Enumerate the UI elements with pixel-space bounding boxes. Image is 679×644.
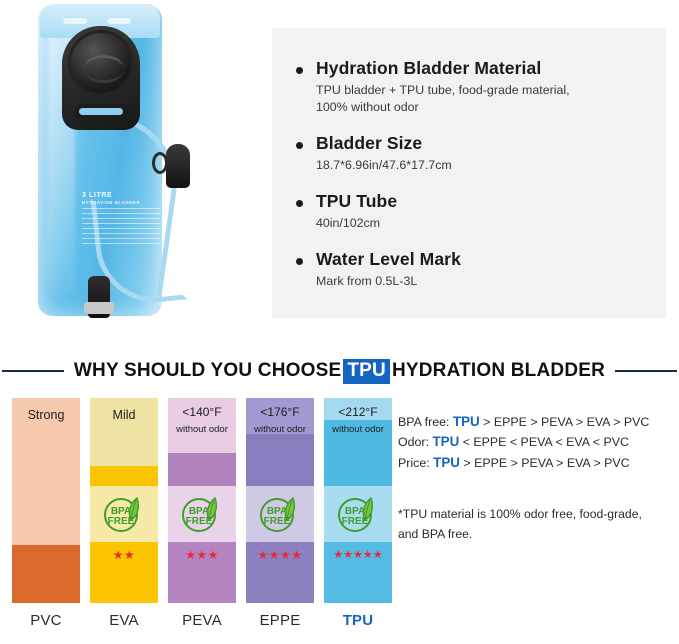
- star-rating: ★★★★★: [324, 548, 392, 561]
- specification-list: Hydration Bladder Material TPU bladder +…: [272, 28, 666, 291]
- headline-tpu-highlight: TPU: [343, 359, 390, 384]
- odor-label: Mild: [90, 408, 158, 422]
- star-rating: ★★: [90, 548, 158, 562]
- bullet-icon: [296, 67, 303, 74]
- bladder-instructions-lines: [82, 208, 160, 244]
- headline-rule-right: [615, 370, 677, 372]
- ranking-rest: > EPPE > PEVA > EVA > PVC: [483, 415, 649, 429]
- comparison-bar: <176°Fwithout odorBPAFREE★★★★: [246, 398, 314, 603]
- hang-slot-right: [106, 17, 132, 25]
- spec-item-bladder-size: Bladder Size 18.7*6.96in/47.6*17.7cm: [294, 133, 666, 174]
- product-image: 3 LITRE HYDRATION BLADDER: [0, 0, 264, 330]
- spec-description: 40in/102cm: [316, 215, 666, 232]
- product-infographic: 3 LITRE HYDRATION BLADDER Hydration Blad…: [0, 0, 679, 644]
- ranking-label: Odor:: [398, 435, 429, 449]
- comparison-column-eppe: <176°Fwithout odorBPAFREE★★★★EPPE: [246, 398, 314, 629]
- column-label-peva: PEVA: [168, 612, 236, 629]
- spec-title: Hydration Bladder Material: [316, 58, 666, 79]
- specification-panel: Hydration Bladder Material TPU bladder +…: [272, 28, 666, 318]
- section-headline: WHY SHOULD YOU CHOOSE TPU HYDRATION BLAD…: [0, 357, 679, 385]
- comparison-columns: StrongPVCMildBPAFREE★★EVA<140°Fwithout o…: [12, 398, 392, 629]
- band-2: [12, 545, 80, 603]
- temperature-label: <140°F: [168, 405, 236, 419]
- ranking-rest: < EPPE < PEVA < EVA < PVC: [463, 435, 629, 449]
- odor-label: without odor: [324, 424, 392, 435]
- band-2: [168, 453, 236, 486]
- material-comparison-chart: StrongPVCMildBPAFREE★★EVA<140°Fwithout o…: [0, 398, 679, 644]
- bladder-capacity-text: 3 LITRE: [82, 192, 160, 199]
- spec-item-tpu-tube: TPU Tube 40in/102cm: [294, 191, 666, 232]
- star-rating: ★★★★: [246, 548, 314, 562]
- ranking-odor: Odor: TPU < EPPE < PEVA < EVA < PVC: [398, 432, 676, 452]
- odor-label: without odor: [246, 424, 314, 435]
- column-label-pvc: PVC: [12, 612, 80, 629]
- comparison-column-eva: MildBPAFREE★★EVA: [90, 398, 158, 629]
- screw-cap-icon: [68, 30, 134, 96]
- ranking-tpu: TPU: [432, 434, 459, 449]
- comparison-bar: Strong: [12, 398, 80, 603]
- temperature-label: <176°F: [246, 405, 314, 419]
- spec-title: Bladder Size: [316, 133, 666, 154]
- spec-item-material: Hydration Bladder Material TPU bladder +…: [294, 58, 666, 116]
- spec-title: TPU Tube: [316, 191, 666, 212]
- star-rating: ★★★: [168, 548, 236, 562]
- temperature-label: <212°F: [324, 405, 392, 419]
- spec-description: Mark from 0.5L-3L: [316, 273, 666, 290]
- ranking-price: Price: TPU > EPPE > PEVA > EVA > PVC: [398, 453, 676, 473]
- ranking-rest: > EPPE > PEVA > EVA > PVC: [463, 456, 629, 470]
- bite-valve-cover: [166, 144, 190, 188]
- ranking-label: BPA free:: [398, 415, 449, 429]
- ranking-tpu: TPU: [453, 414, 480, 429]
- band-2: [246, 434, 314, 486]
- bullet-icon: [296, 142, 303, 149]
- ranking-label: Price:: [398, 456, 430, 470]
- spec-description: 18.7*6.96in/47.6*17.7cm: [316, 157, 666, 174]
- hang-slot-left: [62, 17, 88, 25]
- bpa-free-icon: BPAFREE: [101, 494, 147, 534]
- bullet-icon: [296, 200, 303, 207]
- spec-title: Water Level Mark: [316, 249, 666, 270]
- spec-item-water-level-mark: Water Level Mark Mark from 0.5L-3L: [294, 249, 666, 290]
- svg-text:FREE: FREE: [342, 516, 369, 527]
- svg-text:FREE: FREE: [264, 516, 291, 527]
- bladder-printed-label: 3 LITRE HYDRATION BLADDER: [82, 192, 160, 248]
- comparison-column-pvc: StrongPVC: [12, 398, 80, 629]
- column-label-eva: EVA: [90, 612, 158, 629]
- comparison-column-peva: <140°Fwithout odorBPAFREE★★★PEVA: [168, 398, 236, 629]
- comparison-column-tpu: <212°Fwithout odorBPAFREE★★★★★TPU: [324, 398, 392, 629]
- comparison-bar: <212°Fwithout odorBPAFREE★★★★★: [324, 398, 392, 603]
- headline-text: WHY SHOULD YOU CHOOSE TPU HYDRATION BLAD…: [74, 359, 605, 384]
- bpa-free-icon: BPAFREE: [257, 494, 303, 534]
- headline-rule-left: [2, 370, 64, 372]
- comparison-notes: BPA free: TPU > EPPE > PEVA > EVA > PVC …: [398, 412, 676, 544]
- odor-label: Strong: [12, 408, 80, 422]
- bullet-icon: [296, 258, 303, 265]
- hydration-bladder-illustration: 3 LITRE HYDRATION BLADDER: [38, 4, 198, 322]
- comparison-bar: MildBPAFREE★★: [90, 398, 158, 603]
- bpa-free-icon: BPAFREE: [179, 494, 225, 534]
- footnote-text: *TPU material is 100% odor free, food-gr…: [398, 505, 676, 544]
- cap-grip-handle: [75, 104, 127, 119]
- ranking-bpa-free: BPA free: TPU > EPPE > PEVA > EVA > PVC: [398, 412, 676, 432]
- column-label-eppe: EPPE: [246, 612, 314, 629]
- headline-before: WHY SHOULD YOU CHOOSE: [74, 360, 341, 382]
- band-2: [90, 466, 158, 486]
- comparison-bar: <140°Fwithout odorBPAFREE★★★: [168, 398, 236, 603]
- ranking-tpu: TPU: [433, 455, 460, 470]
- spec-description: TPU bladder + TPU tube, food-grade mater…: [316, 82, 666, 116]
- bite-valve: [88, 276, 110, 318]
- svg-text:FREE: FREE: [108, 516, 135, 527]
- bpa-free-icon: BPAFREE: [335, 494, 381, 534]
- bladder-name-text: HYDRATION BLADDER: [82, 200, 160, 205]
- odor-label: without odor: [168, 424, 236, 435]
- svg-text:FREE: FREE: [186, 516, 213, 527]
- headline-after: HYDRATION BLADDER: [392, 360, 605, 382]
- column-label-tpu: TPU: [324, 612, 392, 629]
